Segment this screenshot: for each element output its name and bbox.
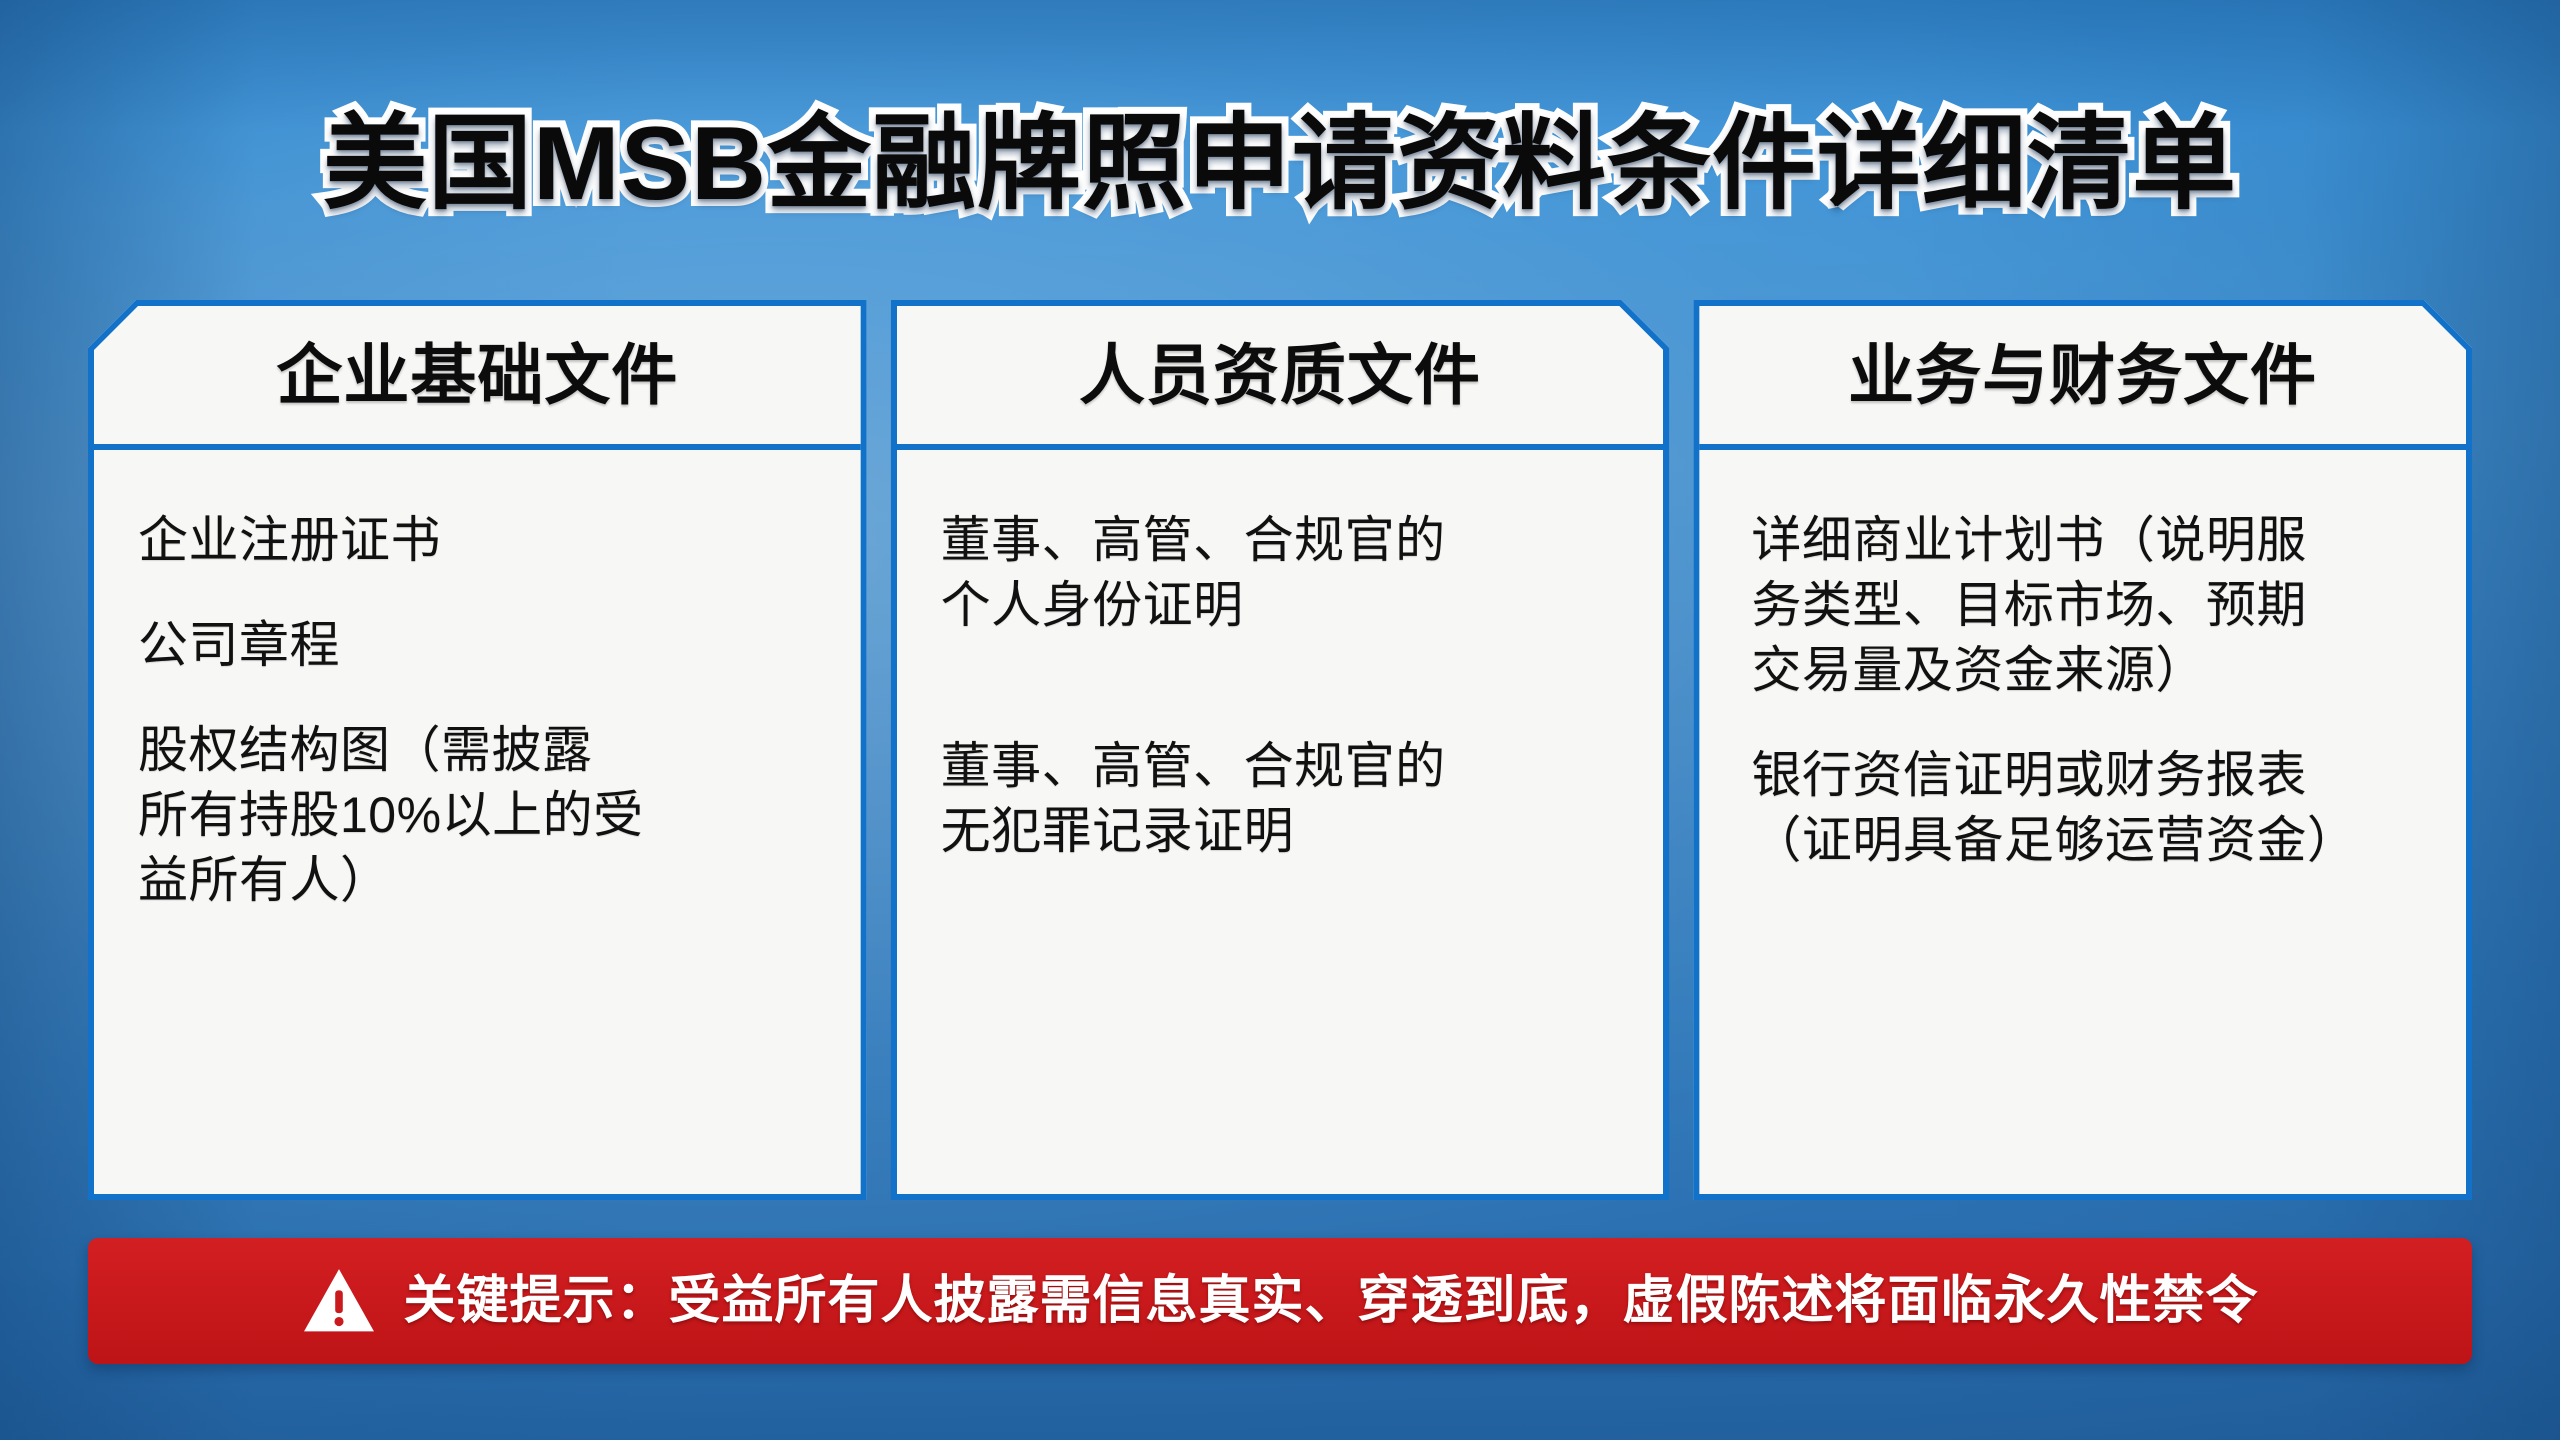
- card-inner: 人员资质文件 董事、高管、合规官的 个人身份证明 董事、高管、合规官的 无犯罪记…: [897, 306, 1664, 1194]
- list-item: 股权结构图（需披露 所有持股10%以上的受 益所有人）: [138, 718, 817, 913]
- list-item: 详细商业计划书（说明服 务类型、目标市场、预期 交易量及资金来源）: [1751, 508, 2432, 703]
- card-body: 详细商业计划书（说明服 务类型、目标市场、预期 交易量及资金来源） 银行资信证明…: [1699, 450, 2466, 1194]
- list-item: 董事、高管、合规官的 无犯罪记录证明: [941, 734, 1620, 864]
- card-body: 企业注册证书 公司章程 股权结构图（需披露 所有持股10%以上的受 益所有人）: [94, 450, 861, 1194]
- key-warning-banner: 关键提示：受益所有人披露需信息真实、穿透到底，虚假陈述将面临永久性禁令: [88, 1238, 2472, 1364]
- card-body: 董事、高管、合规官的 个人身份证明 董事、高管、合规官的 无犯罪记录证明: [897, 450, 1664, 1194]
- list-item: 公司章程: [138, 613, 817, 678]
- card-personnel-documents: 人员资质文件 董事、高管、合规官的 个人身份证明 董事、高管、合规官的 无犯罪记…: [891, 300, 1670, 1200]
- card-inner: 业务与财务文件 详细商业计划书（说明服 务类型、目标市场、预期 交易量及资金来源…: [1699, 306, 2466, 1194]
- card-enterprise-documents: 企业基础文件 企业注册证书 公司章程 股权结构图（需披露 所有持股10%以上的受…: [88, 300, 867, 1200]
- list-item: 企业注册证书: [138, 508, 817, 573]
- list-item: 银行资信证明或财务报表 （证明具备足够运营资金）: [1751, 743, 2432, 873]
- card-header: 企业基础文件: [94, 306, 861, 450]
- card-heading: 企业基础文件: [276, 342, 678, 408]
- page-title: 美国MSB金融牌照申请资料条件详细清单: [323, 106, 2237, 222]
- warning-text: 关键提示：受益所有人披露需信息真实、穿透到底，虚假陈述将面临永久性禁令: [403, 1275, 2258, 1327]
- card-inner: 企业基础文件 企业注册证书 公司章程 股权结构图（需披露 所有持股10%以上的受…: [94, 306, 861, 1194]
- warning-triangle-icon: [301, 1263, 377, 1339]
- card-heading: 业务与财务文件: [1848, 342, 2317, 408]
- card-business-finance-documents: 业务与财务文件 详细商业计划书（说明服 务类型、目标市场、预期 交易量及资金来源…: [1693, 300, 2472, 1200]
- cards-row: 企业基础文件 企业注册证书 公司章程 股权结构图（需披露 所有持股10%以上的受…: [88, 300, 2472, 1200]
- title-container: 美国MSB金融牌照申请资料条件详细清单: [0, 36, 2560, 292]
- list-item: 董事、高管、合规官的 个人身份证明: [941, 508, 1620, 638]
- card-header: 业务与财务文件: [1699, 306, 2466, 450]
- card-header: 人员资质文件: [897, 306, 1664, 450]
- card-heading: 人员资质文件: [1079, 342, 1481, 408]
- infographic-canvas: 美国MSB金融牌照申请资料条件详细清单 企业基础文件 企业注册证书 公司章程 股…: [0, 0, 2560, 1440]
